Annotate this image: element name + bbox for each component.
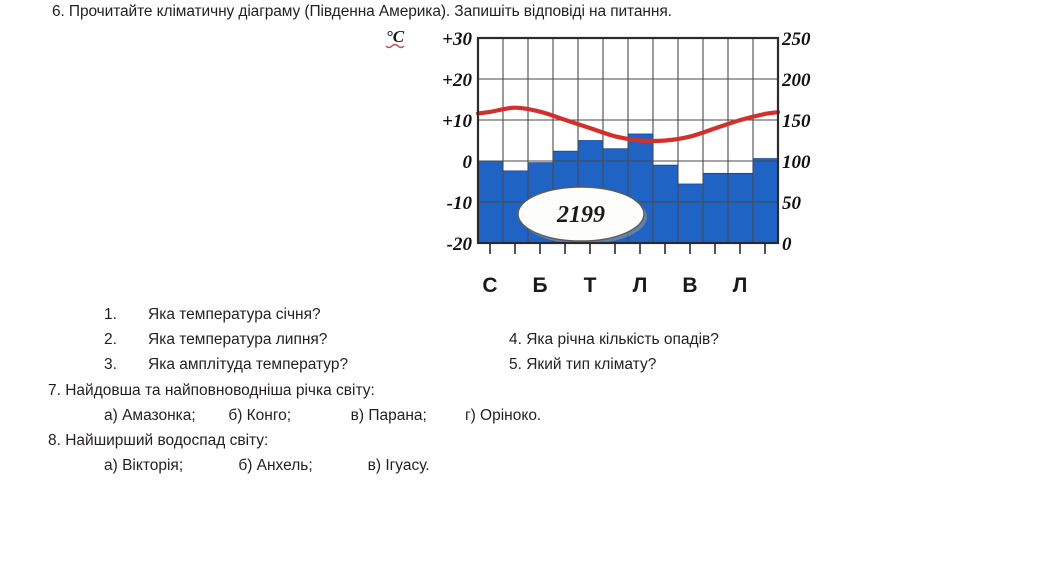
right-tick-3: 100	[782, 152, 811, 173]
left-axis-unit-label: °C	[386, 27, 405, 46]
month-label-4: В	[682, 274, 697, 297]
right-axis-ticks: 250 200 150 100 50 0	[781, 29, 811, 255]
left-tick-4: -10	[447, 193, 473, 214]
question-8-options: а) Вікторія; б) Анхель; в) Ігуасу.	[104, 453, 430, 478]
question-row-2: 2. Яка температура липня? 4. Яка річна к…	[104, 327, 924, 352]
right-tick-1: 200	[781, 70, 811, 91]
month-label-3: Л	[633, 274, 648, 297]
left-tick-3: 0	[463, 152, 473, 173]
climate-diagram-svg: °C +30 +20 +10 0 -10 -20 250 200 150 100…	[378, 24, 838, 304]
right-tick-4: 50	[782, 193, 802, 214]
question-row-1: 1. Яка температура січня?	[104, 302, 924, 327]
left-tick-0: +30	[442, 29, 472, 50]
question-text-1: Яка температура січня?	[148, 302, 321, 327]
question-7-stem: 7. Найдовша та найповноводніша річка сві…	[48, 378, 541, 403]
question-7-option-g[interactable]: г) Оріноко.	[465, 403, 541, 428]
left-tick-5: -20	[447, 234, 473, 255]
question-7-option-a[interactable]: а) Амазонка;	[104, 403, 224, 428]
question-8-option-a[interactable]: а) Вікторія;	[104, 453, 234, 478]
question-text-right-2: 4. Яка річна кількість опадів?	[509, 327, 719, 352]
x-axis-month-labels: С Б Т Л В Л	[482, 274, 747, 297]
right-tick-0: 250	[781, 29, 811, 50]
question-8-stem: 8. Найширший водоспад світу:	[48, 428, 430, 453]
right-tick-2: 150	[782, 111, 811, 132]
left-tick-1: +20	[442, 70, 472, 91]
question-7-option-v[interactable]: в) Парана;	[351, 403, 461, 428]
question-7: 7. Найдовша та найповноводніша річка сві…	[48, 378, 541, 428]
question-text-2: Яка температура липня?	[148, 327, 327, 352]
page-title: 6. Прочитайте кліматичну діаграму (Півде…	[52, 2, 672, 22]
x-axis-tick-marks	[490, 243, 765, 254]
month-label-5: Л	[733, 274, 748, 297]
annual-precipitation-value: 2199	[556, 202, 605, 228]
month-label-2: Т	[584, 274, 597, 297]
climate-diagram: °C +30 +20 +10 0 -10 -20 250 200 150 100…	[378, 24, 838, 304]
right-tick-5: 0	[782, 234, 792, 255]
month-label-0: С	[482, 274, 497, 297]
question-number-3: 3.	[104, 352, 130, 377]
precipitation-bar	[653, 165, 678, 243]
question-number-1: 1.	[104, 302, 130, 327]
question-8-option-b[interactable]: б) Анхель;	[238, 453, 363, 478]
question-7-options: а) Амазонка; б) Конго; в) Парана; г) Орі…	[104, 403, 541, 428]
question-text-3: Яка амплітуда температур?	[148, 352, 348, 377]
question-row-3: 3. Яка амплітуда температур? 5. Який тип…	[104, 352, 924, 377]
precipitation-bar	[728, 173, 753, 243]
precipitation-bar	[753, 159, 778, 243]
question-8: 8. Найширший водоспад світу: а) Вікторія…	[48, 428, 430, 478]
precipitation-bar	[678, 184, 703, 243]
month-label-1: Б	[532, 274, 547, 297]
left-tick-2: +10	[442, 111, 472, 132]
question-7-option-b[interactable]: б) Конго;	[228, 403, 346, 428]
precipitation-bar	[703, 173, 728, 243]
plot-area: 2199	[478, 38, 778, 244]
question-list: 1. Яка температура січня? 2. Яка темпера…	[104, 302, 924, 377]
question-text-right-3: 5. Який тип клімату?	[509, 352, 656, 377]
question-number-2: 2.	[104, 327, 130, 352]
left-axis-ticks: +30 +20 +10 0 -10 -20	[442, 29, 472, 255]
question-8-option-v[interactable]: в) Ігуасу.	[368, 453, 430, 478]
